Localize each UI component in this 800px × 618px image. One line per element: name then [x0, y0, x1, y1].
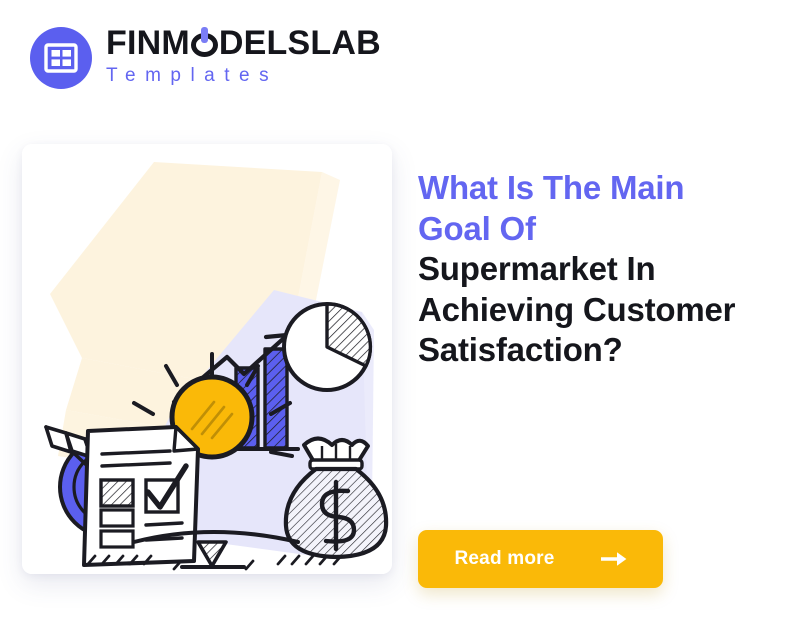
- brand-text: FINM DELSLAB Templates: [106, 26, 381, 90]
- headline-main-line: Supermarket In Achieving Customer Satisf…: [418, 249, 748, 371]
- pie-chart-icon: [284, 304, 370, 390]
- page-title: What Is The Main Goal Of Supermarket In …: [418, 168, 748, 371]
- read-more-label: Read more: [454, 548, 554, 570]
- grid-2x2-icon: [30, 27, 92, 89]
- brand-wordmark-part1: FINM: [106, 26, 190, 61]
- brand-subtitle: Templates: [106, 62, 381, 91]
- poster-canvas: FINM DELSLAB Templates: [0, 0, 800, 618]
- checklist-document-icon: [84, 427, 198, 565]
- read-more-button[interactable]: Read more: [418, 530, 663, 588]
- headline-accent-line: What Is The Main Goal Of: [418, 168, 748, 249]
- brand-wordmark: FINM DELSLAB: [106, 26, 381, 61]
- brand-logo[interactable]: FINM DELSLAB Templates: [30, 26, 381, 90]
- business-goals-illustration: [22, 144, 392, 574]
- headline-block: What Is The Main Goal Of Supermarket In …: [418, 168, 748, 371]
- arrow-right-icon: [601, 551, 627, 567]
- illustration-card: [22, 144, 392, 574]
- power-button-o-icon: [191, 30, 218, 57]
- brand-wordmark-part2: DELSLAB: [219, 26, 381, 61]
